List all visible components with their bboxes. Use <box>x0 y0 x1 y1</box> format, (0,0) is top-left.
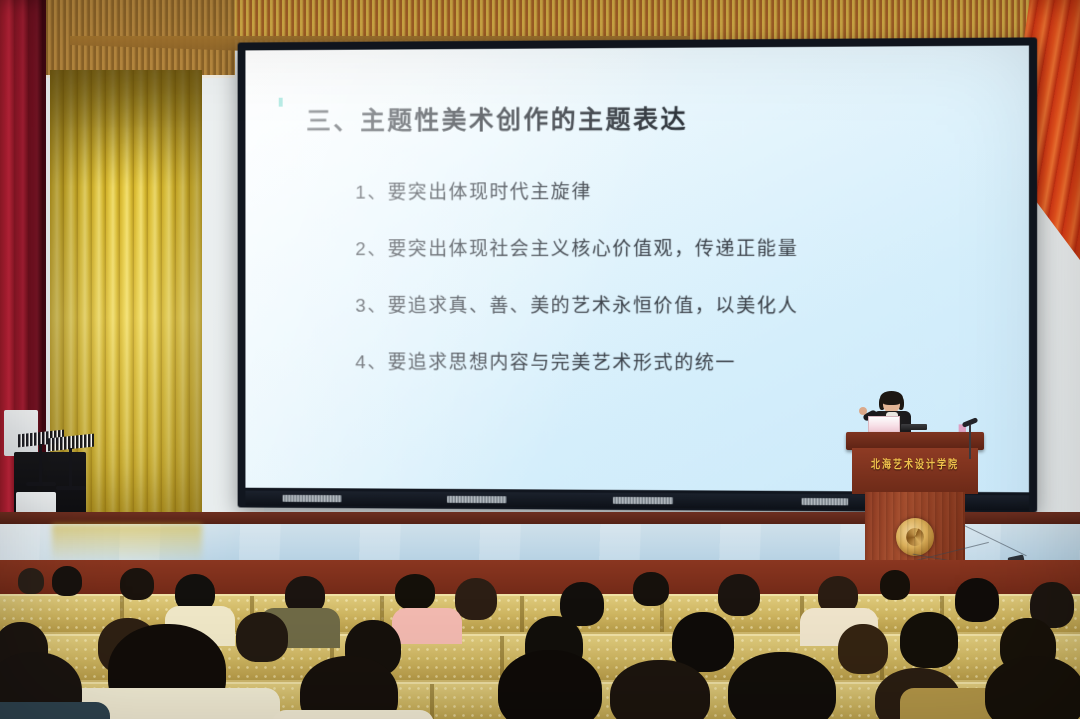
audience-head <box>236 612 288 662</box>
audience-head-foreground <box>498 650 602 719</box>
audience-person-body <box>392 608 462 644</box>
slide-bullet-list: 1、要突出体现时代主旋律 2、要突出体现社会主义核心价值观，传递正能量 3、要追… <box>292 163 988 393</box>
slide-bullet-3: 3、要追求真、善、美的艺术永恒价值，以美化人 <box>355 278 988 336</box>
podium-column <box>865 492 965 560</box>
seat-divider <box>430 684 434 719</box>
slide-bullet-4: 4、要追求思想内容与完美艺术形式的统一 <box>355 335 988 394</box>
microphone-stand <box>958 420 984 460</box>
audience-head <box>52 566 82 596</box>
audience-head-foreground <box>728 652 836 719</box>
school-crest-emblem-icon <box>896 518 934 556</box>
audience-person-body <box>272 710 434 719</box>
lecture-hall-photo: 三、主题性美术创作的主题表达 1、要突出体现时代主旋律 2、要突出体现社会主义核… <box>0 0 1080 719</box>
speaker-grille <box>802 498 848 505</box>
lectern-podium: 北海艺术设计学院 <box>860 432 970 560</box>
audience-area <box>0 560 1080 719</box>
laptop-on-podium <box>901 424 927 430</box>
floor-curtain-reflection <box>52 524 202 564</box>
speaker-grille <box>447 496 506 503</box>
audience-head-foreground <box>610 660 710 719</box>
microphone-pole <box>969 425 971 459</box>
audience-head <box>120 568 154 600</box>
speaker-grille <box>613 497 673 504</box>
music-stand <box>48 436 94 496</box>
audience-head <box>18 568 44 594</box>
music-stand-pole <box>69 448 72 488</box>
audience-head <box>395 574 435 610</box>
audience-person-body <box>0 702 110 719</box>
seat-divider <box>520 596 524 632</box>
audience-head <box>900 612 958 668</box>
speaker-grille <box>283 495 342 502</box>
audience-head <box>838 624 888 674</box>
audience-head <box>880 570 910 600</box>
music-stand-pole <box>39 444 42 484</box>
slide-title: 三、主题性美术创作的主题表达 <box>306 98 988 137</box>
slide-bullet-1: 1、要突出体现时代主旋律 <box>355 163 988 221</box>
music-stand-base <box>56 486 86 490</box>
slide-bullet-2: 2、要突出体现社会主义核心价值观，传递正能量 <box>355 220 988 278</box>
audience-head <box>633 572 669 606</box>
audience-head <box>718 574 760 616</box>
audience-head <box>955 578 999 622</box>
audience-head-foreground <box>985 656 1080 719</box>
audience-head <box>455 578 497 620</box>
speaker-hair <box>880 391 903 405</box>
speaker-hand <box>859 407 867 415</box>
